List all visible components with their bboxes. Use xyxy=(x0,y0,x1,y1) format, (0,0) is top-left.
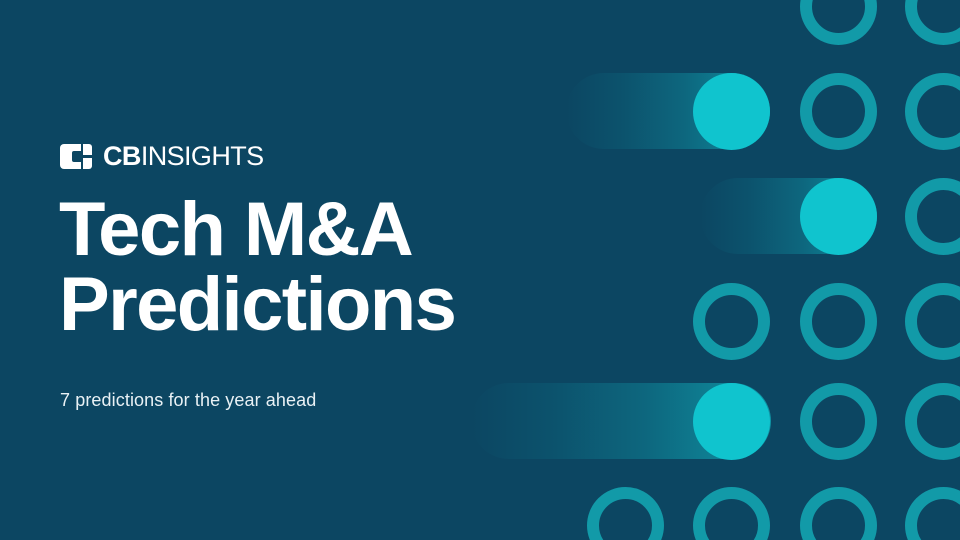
logo-mark-c-shape xyxy=(60,144,81,169)
cb-insights-logo: CBINSIGHTS xyxy=(60,139,264,173)
cb-insights-logo-mark xyxy=(60,144,92,169)
logo-wordmark-bold: CB xyxy=(103,141,141,171)
page-title: Tech M&A Predictions xyxy=(59,192,579,342)
page-subtitle: 7 predictions for the year ahead xyxy=(60,389,316,412)
logo-wordmark: CBINSIGHTS xyxy=(103,143,264,170)
logo-wordmark-light: INSIGHTS xyxy=(141,141,264,171)
slide-content: CBINSIGHTS Tech M&A Predictions 7 predic… xyxy=(0,0,960,540)
logo-mark-square-top xyxy=(83,144,92,155)
slide-canvas: CBINSIGHTS Tech M&A Predictions 7 predic… xyxy=(0,0,960,540)
logo-mark-square-bottom xyxy=(83,158,92,169)
page-title-line-2: Predictions xyxy=(59,267,579,342)
page-title-line-1: Tech M&A xyxy=(59,192,579,267)
